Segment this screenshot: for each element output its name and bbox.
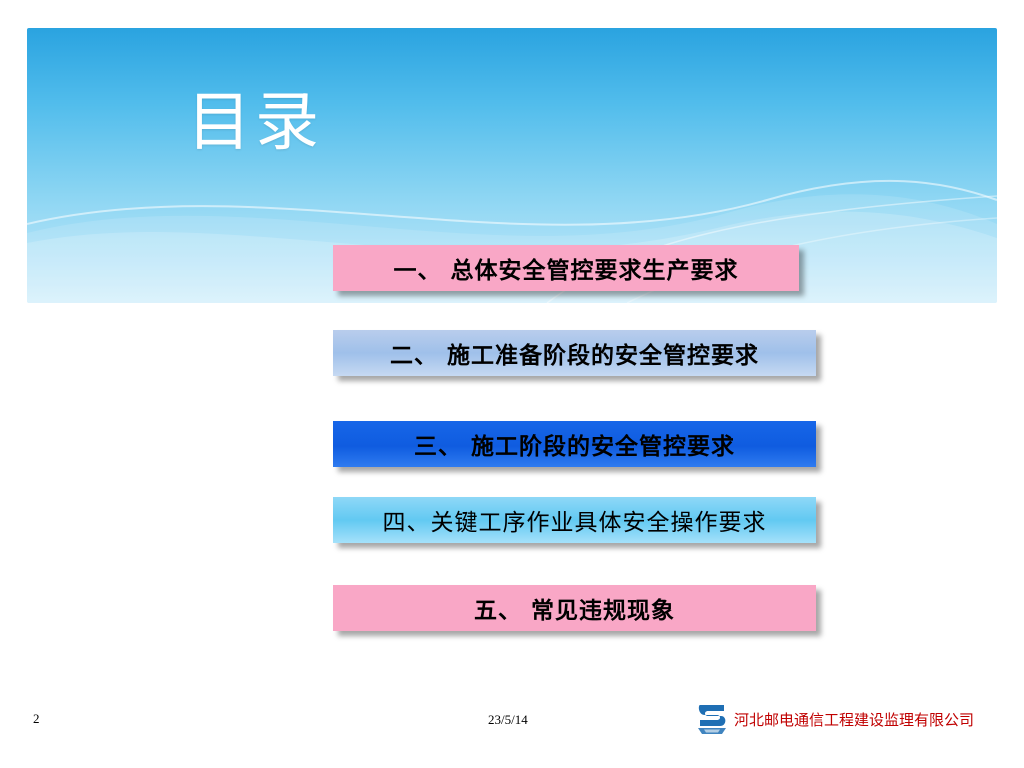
agenda-item-4[interactable]: 四、关键工序作业具体安全操作要求: [333, 497, 816, 543]
agenda-item-3-label: 三、 施工阶段的安全管控要求: [333, 427, 816, 461]
company-name: 河北邮电通信工程建设监理有限公司: [734, 709, 974, 730]
agenda-item-2[interactable]: 二、 施工准备阶段的安全管控要求: [333, 330, 816, 376]
agenda-item-1-label: 一、 总体安全管控要求生产要求: [333, 251, 799, 285]
slide-canvas: 目录 一、 总体安全管控要求生产要求 二、 施工准备阶段的安全管控要求 三、 施…: [0, 0, 1024, 768]
agenda-item-5[interactable]: 五、 常见违规现象: [333, 585, 816, 631]
agenda-item-1[interactable]: 一、 总体安全管控要求生产要求: [333, 245, 799, 291]
company-logo-icon: [694, 702, 730, 736]
agenda-item-3[interactable]: 三、 施工阶段的安全管控要求: [333, 421, 816, 467]
footer-date: 23/5/14: [488, 712, 528, 728]
page-title: 目录: [187, 88, 323, 158]
agenda-item-5-label: 五、 常见违规现象: [333, 591, 816, 625]
page-number: 2: [33, 711, 40, 727]
agenda-item-2-label: 二、 施工准备阶段的安全管控要求: [333, 336, 816, 370]
agenda-item-4-label: 四、关键工序作业具体安全操作要求: [333, 503, 816, 537]
footer-company-block: 河北邮电通信工程建设监理有限公司: [694, 702, 974, 736]
